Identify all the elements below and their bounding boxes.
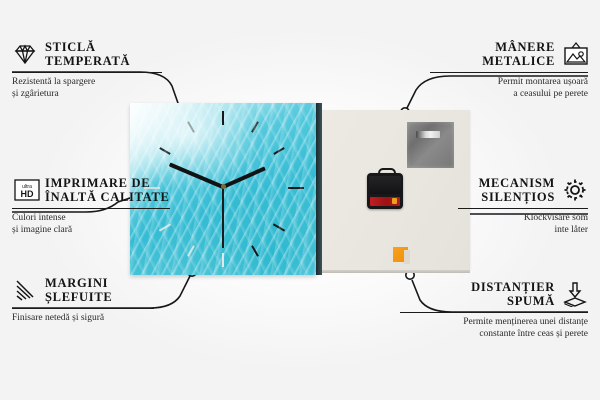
tick-3 [288, 187, 304, 189]
callout-title-line2: SILENȚIOS [479, 190, 555, 204]
callout-sub-line1: Permit montarea ușoară [430, 77, 588, 89]
tick-12 [222, 111, 224, 125]
tick-4 [273, 223, 285, 231]
tick-11 [187, 121, 195, 132]
tick-2 [273, 147, 284, 155]
callout-sub-line2: inte låter [458, 225, 588, 237]
callout-margini-slefuite: MARGINI ȘLEFUITE Finisare netedă și sigu… [12, 276, 154, 325]
callout-sub-line2: și imagine clară [12, 225, 170, 237]
callout-title-line1: MECANISM [479, 176, 555, 190]
bevel-edge-icon [12, 277, 38, 303]
svg-text:HD: HD [21, 189, 34, 199]
second-hand [222, 186, 224, 248]
hands-pin [221, 184, 226, 189]
callout-mecanism-silentios: MECANISM SILENȚIOS Klockvisare som inte … [458, 176, 588, 236]
callout-title-line1: MARGINI [45, 276, 112, 290]
callout-title-line1: DISTANȚIER [471, 280, 555, 294]
tick-7 [187, 245, 195, 256]
callout-title-line2: TEMPERATĂ [45, 54, 130, 68]
callout-rule [458, 208, 588, 209]
tick-1 [251, 121, 259, 132]
infographic-stage: STICLĂ TEMPERATĂ Rezistentă la spargere … [0, 0, 600, 400]
tick-10 [159, 147, 170, 155]
diamond-icon [12, 41, 38, 67]
arrow-down-foam-icon [562, 281, 588, 307]
product-image [130, 103, 470, 278]
callout-sub-line1: Culori intense [12, 213, 170, 225]
callout-rule [12, 208, 170, 209]
tempered-glass-edge [316, 103, 322, 275]
aa-battery [370, 197, 400, 206]
callout-distantier-spuma: DISTANȚIER SPUMĂ Permite menținerea unei… [400, 280, 588, 340]
callout-imprimare-inalta-calitate: ultra HD IMPRIMARE DE ÎNALTĂ CALITATE Cu… [12, 176, 170, 236]
callout-sub-line2: a ceasului pe perete [430, 89, 588, 101]
metal-hanger-plate [407, 122, 454, 168]
callout-rule [400, 312, 588, 313]
callout-rule [12, 308, 154, 309]
callout-rule [12, 72, 162, 73]
hour-hand [222, 166, 266, 188]
callout-sub-line1: Permite menținerea unei distanțe [400, 317, 588, 329]
callout-manere-metalice: MÂNERE METALICE Permit montarea ușoară a… [430, 40, 588, 100]
callout-sticla-temperata: STICLĂ TEMPERATĂ Rezistentă la spargere … [12, 40, 162, 100]
clock-mechanism [367, 173, 403, 209]
hanger-slot [416, 131, 440, 138]
callout-sub-line1: Rezistentă la spargere [12, 77, 162, 89]
foam-spacer [393, 247, 408, 262]
callout-sub-line2: constante între ceas și perete [400, 329, 588, 341]
ultra-hd-icon: ultra HD [12, 177, 38, 203]
callout-sub-line1: Finisare netedă și sigură [12, 313, 154, 325]
callout-title-line2: ȘLEFUITE [45, 290, 112, 304]
callout-sub-line2: și zgârietura [12, 89, 162, 101]
callout-title-line2: ÎNALTĂ CALITATE [45, 190, 170, 204]
callout-title-line2: METALICE [482, 54, 555, 68]
picture-frame-hook-icon [562, 41, 588, 67]
callout-title-line2: SPUMĂ [471, 294, 555, 308]
tick-5 [251, 245, 259, 256]
callout-title-line1: MÂNERE [482, 40, 555, 54]
callout-title-line1: IMPRIMARE DE [45, 176, 170, 190]
gear-icon [562, 177, 588, 203]
mechanism-body [369, 176, 401, 194]
callout-sub-line1: Klockvisare som [458, 213, 588, 225]
minute-hand [169, 162, 224, 188]
callout-title-line1: STICLĂ [45, 40, 130, 54]
callout-rule [430, 72, 588, 73]
tick-6 [222, 253, 224, 267]
